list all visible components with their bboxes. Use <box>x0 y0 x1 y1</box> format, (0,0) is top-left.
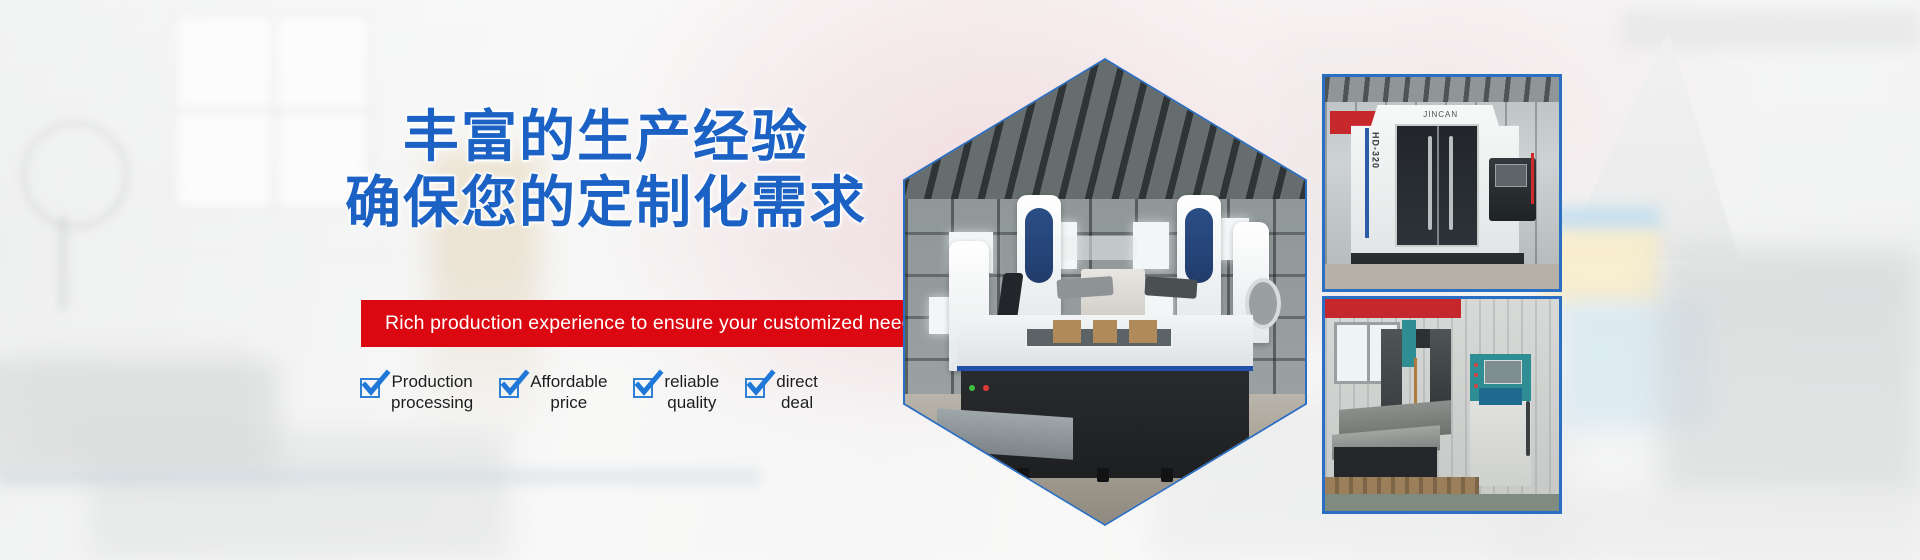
thumb1-cnc-red-accent <box>1531 153 1534 204</box>
subtitle-text: Rich production experience to ensure you… <box>385 312 923 335</box>
thumb2-red-banner <box>1325 299 1461 318</box>
thumbnail-edm-wire-cut <box>1322 296 1562 514</box>
feature-label: directdeal <box>776 372 818 413</box>
checkbox-checked-icon <box>360 378 380 398</box>
machine-foot <box>1161 468 1173 482</box>
thumb2-cabinet-button <box>1474 363 1478 367</box>
thumb1-cnc-screen <box>1495 164 1528 187</box>
feature-item-direct-deal: directdeal <box>745 372 818 413</box>
machine-control-panel <box>1025 208 1053 282</box>
thumb1-machine-door <box>1395 124 1479 247</box>
thumb2-cabinet-button <box>1474 373 1478 377</box>
thumb2-cabinet-screen <box>1484 360 1521 383</box>
feature-item-reliable-quality: reliablequality <box>633 372 719 413</box>
machine-arm <box>1144 276 1197 298</box>
feature-label-line-1: direct <box>776 372 818 391</box>
feature-label-line-1: Production <box>391 372 472 391</box>
factory-wall-sign <box>1049 236 1137 259</box>
thumb1-model-label: HD-320 <box>1371 132 1381 169</box>
feature-item-affordable-price: Affordableprice <box>499 372 607 413</box>
thumb1-ceiling-beam <box>1325 77 1559 102</box>
headline-line-1: 丰富的生产经验 <box>316 104 896 170</box>
feature-item-production-processing: Productionprocessing <box>360 372 473 413</box>
thumb2-cabinet-button <box>1474 384 1478 388</box>
thumb2-gantry-column <box>1430 329 1451 410</box>
checkbox-checked-icon <box>633 378 653 398</box>
thumb2-floor <box>1325 494 1559 511</box>
feature-label-line-2: deal <box>781 393 813 412</box>
thumb1-door-handle <box>1428 136 1432 229</box>
thumb1-blue-stripe <box>1365 128 1369 238</box>
headline: 丰富的生产经验 确保您的定制化需求 <box>316 104 896 236</box>
checkbox-checked-icon <box>745 378 765 398</box>
feature-label-line-2: quality <box>667 393 716 412</box>
thumb1-brand-text: JINCAN <box>1423 110 1458 119</box>
feature-label-line-2: price <box>550 393 587 412</box>
machine-cardboard-box <box>1129 320 1157 343</box>
machine-foot <box>1097 468 1109 482</box>
feature-label: Affordableprice <box>530 372 607 413</box>
thumb2-cabinet-panel <box>1479 388 1521 405</box>
factory-window <box>1133 222 1169 268</box>
machine-control-panel <box>1185 208 1213 282</box>
hero-banner: 丰富的生产经验 确保您的定制化需求 Rich production experi… <box>0 0 1920 560</box>
thumb2-power-cord <box>1526 401 1530 456</box>
thumb1-door-handle <box>1449 136 1453 229</box>
thumb1-floor <box>1325 264 1559 289</box>
checkbox-checked-icon <box>499 378 519 398</box>
subtitle-bar: Rich production experience to ensure you… <box>361 300 906 347</box>
machine-cardboard-box <box>1093 320 1117 343</box>
feature-label: reliablequality <box>664 372 719 413</box>
feature-list: Productionprocessing Affordableprice rel… <box>360 372 844 413</box>
machine-cardboard-box <box>1053 320 1081 343</box>
headline-line-2: 确保您的定制化需求 <box>316 170 896 236</box>
feature-label: Productionprocessing <box>391 372 473 413</box>
feature-label-line-2: processing <box>391 393 473 412</box>
feature-label-line-1: Affordable <box>530 372 607 391</box>
feature-label-line-1: reliable <box>664 372 719 391</box>
thumbnail-hd320-machining-center: JINCAN HD-320 <box>1322 74 1562 292</box>
